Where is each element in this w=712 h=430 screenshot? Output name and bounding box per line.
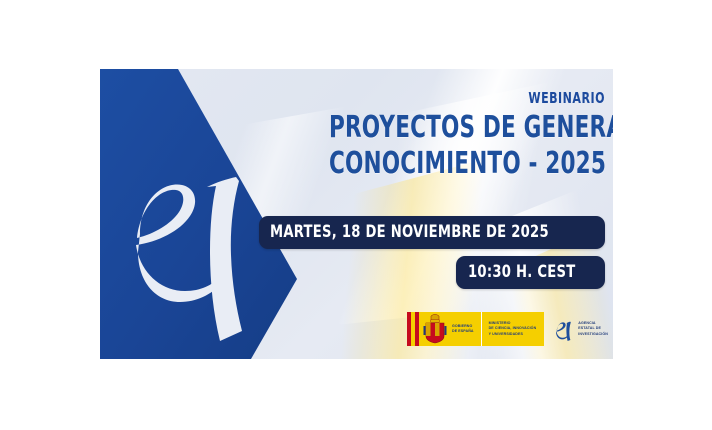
screenshot-canvas: WEBINARIO PROYECTOS DE GENERACIÓN DE CON… [0, 0, 712, 430]
event-time-text: 10:30 H. CEST [468, 262, 575, 282]
ministry-line-3: Y UNIVERSIDADES [489, 332, 523, 336]
coat-of-arms-icon [422, 314, 448, 344]
agencia-estatal-investigacion-logo: AGENCIAESTATAL DEINVESTIGACIÓN [544, 312, 608, 346]
page-title-line-2: CONOCIMIENTO - 2025 [329, 147, 605, 181]
aei-line-2: ESTATAL DE [578, 326, 601, 330]
gov-line-1: GOBIERNO [452, 324, 472, 328]
spanish-flag-icon [407, 312, 420, 346]
event-date-badge: MARTES, 18 DE NOVIEMBRE DE 2025 [259, 216, 605, 249]
aei-line-3: INVESTIGACIÓN [578, 332, 608, 336]
government-logo-text: GOBIERNODE ESPAÑA [451, 324, 481, 334]
date-pill-row: MARTES, 18 DE NOVIEMBRE DE 2025 [260, 216, 605, 249]
gov-line-2: DE ESPAÑA [452, 329, 474, 333]
aei-monogram-icon [553, 317, 574, 341]
flag-stripe-red-right [415, 312, 419, 346]
ministry-logo-text: MINISTERIODE CIENCIA, INNOVACIÓNY UNIVER… [482, 321, 545, 337]
eyebrow-label: WEBINARIO [322, 91, 605, 106]
ministry-line-1: MINISTERIO [489, 321, 511, 325]
government-of-spain-logo: GOBIERNODE ESPAÑA MINISTERIODE CIENCIA, … [407, 312, 544, 346]
aei-line-1: AGENCIA [578, 321, 595, 325]
webinar-promo-banner: WEBINARIO PROYECTOS DE GENERACIÓN DE CON… [100, 69, 613, 359]
institutional-logo-strip: GOBIERNODE ESPAÑA MINISTERIODE CIENCIA, … [407, 312, 608, 346]
page-title-line-1: PROYECTOS DE GENERACIÓN DE [329, 111, 605, 145]
event-time-badge: 10:30 H. CEST [456, 256, 605, 289]
banner-text-column: WEBINARIO PROYECTOS DE GENERACIÓN DE CON… [260, 91, 605, 289]
aei-logo-text: AGENCIAESTATAL DEINVESTIGACIÓN [578, 321, 608, 337]
event-date-text: MARTES, 18 DE NOVIEMBRE DE 2025 [270, 222, 549, 242]
time-pill-row: 10:30 H. CEST [260, 256, 605, 289]
ministry-line-2: DE CIENCIA, INNOVACIÓN [489, 326, 537, 330]
